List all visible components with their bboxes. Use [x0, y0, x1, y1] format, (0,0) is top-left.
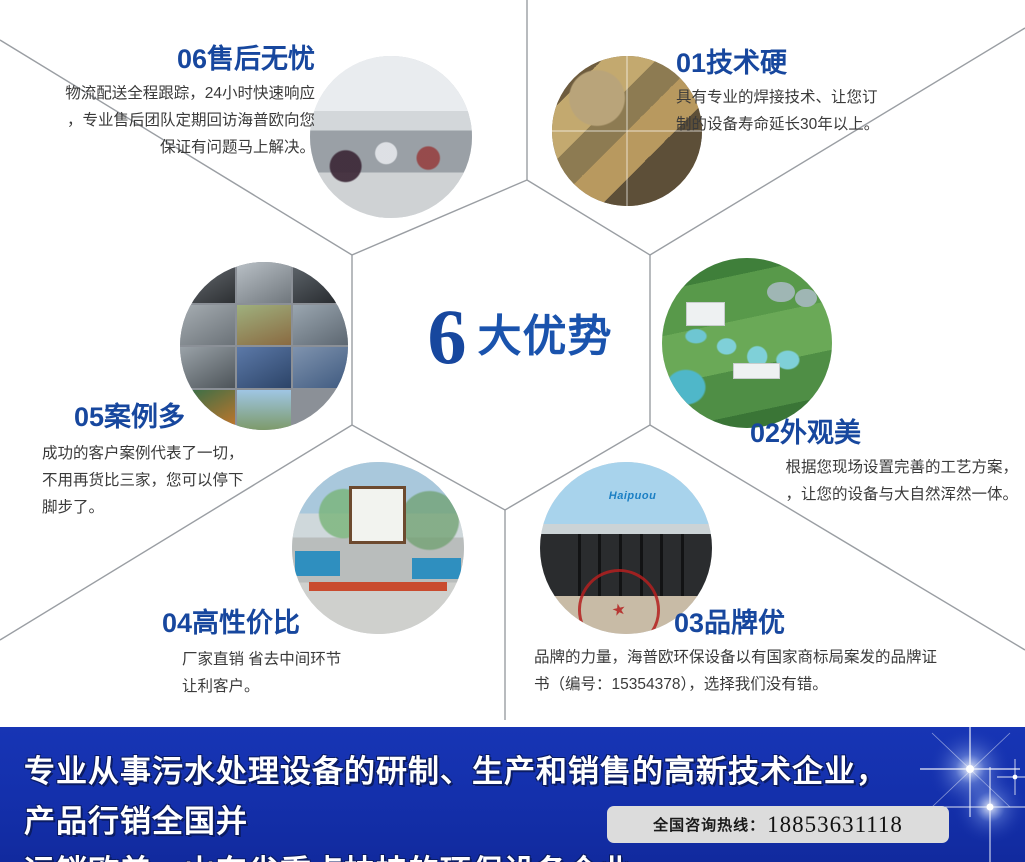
- feature-line-01-1: 具有专业的焊接技术、让您订: [676, 84, 1016, 111]
- feature-line-05-1: 成功的客户案例代表了一切，: [42, 440, 332, 467]
- feature-block-06: 06售后无忧 物流配送全程跟踪，24小时快速响应 ，专业售后团队定期回访海普欧向…: [10, 44, 315, 161]
- infographic-canvas: 6 大优势 06售后无忧 物流配送全程跟踪，24小时快速响应 ，专业售后团队定期…: [0, 0, 1025, 862]
- feature-line-06-1: 物流配送全程跟踪，24小时快速响应: [10, 80, 315, 107]
- center-label: 6 大优势: [400, 292, 640, 382]
- feature-line-04-1: 厂家直销 省去中间环节: [182, 646, 420, 673]
- aerial-wastewater-plant-photo: [662, 258, 832, 428]
- feature-image-06: [310, 56, 472, 218]
- feature-image-02: [662, 258, 832, 428]
- banner-text: 专业从事污水处理设备的研制、生产和销售的高新技术企业，产品行销全国并 远销欧美，…: [24, 747, 904, 862]
- sparkle-icon-small: [993, 755, 1025, 799]
- banner-line-2: 远销欧美，山东省重点扶持的环保设备企业。: [24, 847, 904, 862]
- feature-heading-02: 02外观美: [750, 418, 1018, 448]
- feature-line-03-1: 品牌的力量，海普欧环保设备以有国家商标局案发的品牌证: [534, 644, 1024, 671]
- feature-line-03-2: 书（编号：15354378），选择我们没有错。: [534, 671, 1024, 698]
- feature-line-06-2: ，专业售后团队定期回访海普欧向您: [10, 107, 315, 134]
- center-number: 6: [428, 298, 466, 376]
- feature-block-02: 02外观美 根据您现场设置完善的工艺方案， ，让您的设备与大自然浑然一体。: [700, 418, 1018, 508]
- hotline-box[interactable]: 全国咨询热线： 18853631118: [607, 806, 949, 843]
- feature-line-04-2: 让利客户。: [182, 673, 420, 700]
- feature-line-05-2: 不用再货比三家，您可以停下: [42, 467, 332, 494]
- hotline-number: 18853631118: [767, 812, 903, 838]
- feature-heading-04: 04高性价比: [162, 608, 420, 638]
- feature-heading-05: 05案例多: [74, 402, 332, 432]
- feature-line-05-3: 脚步了。: [42, 494, 332, 521]
- feature-heading-06: 06售后无忧: [10, 44, 315, 74]
- feature-block-03: 03品牌优 品牌的力量，海普欧环保设备以有国家商标局案发的品牌证 书（编号：15…: [534, 608, 1024, 698]
- feature-block-04: 04高性价比 厂家直销 省去中间环节 让利客户。: [120, 608, 420, 700]
- feature-block-01: 01技术硬 具有专业的焊接技术、让您订 制的设备寿命延长30年以上。: [676, 48, 1016, 138]
- feature-line-01-2: 制的设备寿命延长30年以上。: [676, 111, 1016, 138]
- feature-block-05: 05案例多 成功的客户案例代表了一切， 不用再货比三家，您可以停下 脚步了。: [42, 402, 332, 521]
- feature-heading-03: 03品牌优: [674, 608, 1024, 638]
- feature-heading-01: 01技术硬: [676, 48, 1016, 78]
- office-staff-photo: [310, 56, 472, 218]
- feature-line-02-1: 根据您现场设置完善的工艺方案，: [700, 454, 1018, 481]
- feature-line-02-2: ，让您的设备与大自然浑然一体。: [700, 481, 1018, 508]
- hotline-label: 全国咨询热线：: [653, 814, 765, 835]
- brand-logo: Haipuou: [609, 490, 657, 502]
- feature-line-06-3: 保证有问题马上解决。: [10, 134, 315, 161]
- center-label-text: 大优势: [478, 313, 613, 361]
